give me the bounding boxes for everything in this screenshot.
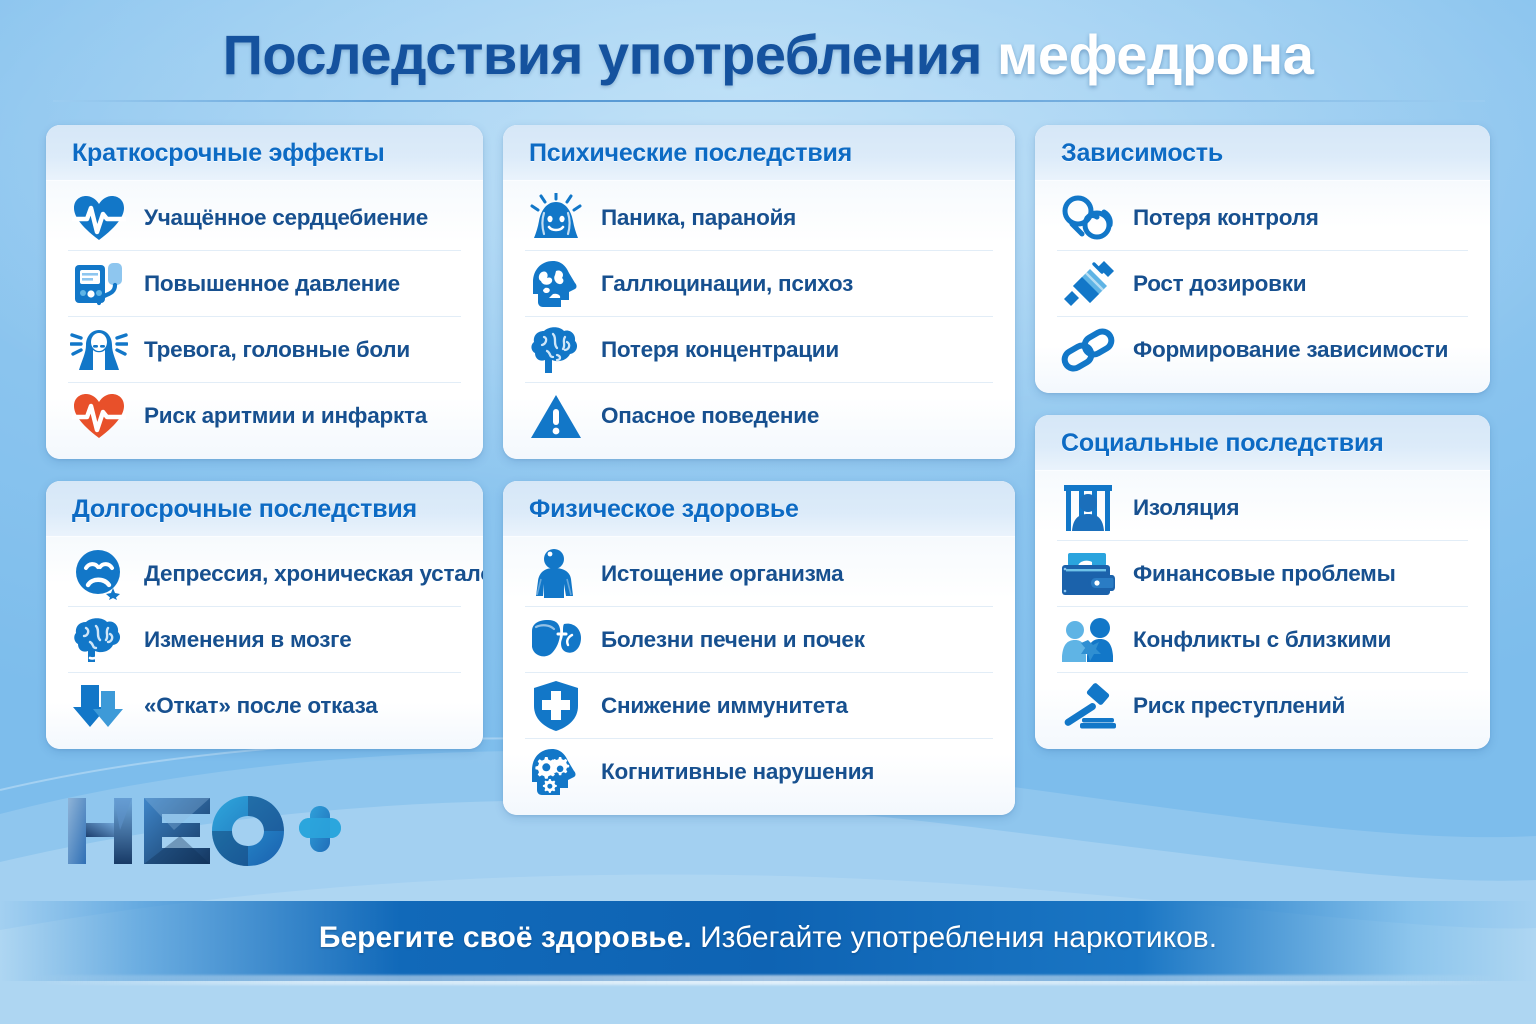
list-item[interactable]: Учащённое сердцебиение: [68, 185, 461, 251]
list-item-label: Финансовые проблемы: [1133, 561, 1396, 587]
column-left: Краткосрочные эффекты Учащённое сердцеби…: [46, 125, 483, 749]
shield-cross-icon: [525, 676, 587, 736]
list-item-label: Когнитивные нарушения: [601, 759, 874, 785]
card-header: Краткосрочные эффекты: [46, 125, 483, 181]
list-item-label: Опасное поведение: [601, 403, 819, 429]
wallet-icon: [1057, 544, 1119, 604]
logo-neo-plus: [62, 792, 342, 870]
card-long-term: Долгосрочные последствия Депрессия, хрон…: [46, 481, 483, 749]
list-item-label: «Откат» после отказа: [144, 693, 378, 719]
hallucination-head-icon: [525, 254, 587, 314]
card-mental: Психические последствия Пани: [503, 125, 1015, 459]
heart-pulse-icon: [68, 188, 130, 248]
list-item-label: Депрессия, хроническая усталость: [144, 561, 483, 587]
list-item-label: Тревога, головные боли: [144, 337, 410, 363]
footer-message-bold: Берегите своё здоровье.: [319, 921, 692, 954]
card-title: Социальные последствия: [1061, 429, 1468, 458]
list-item-label: Изменения в мозге: [144, 627, 352, 653]
title-divider: [53, 100, 1485, 102]
footer-message-regular: Избегайте употребления наркотиков.: [692, 921, 1217, 954]
list-item[interactable]: Конфликты с близкими: [1057, 607, 1468, 673]
liver-kidney-icon: [525, 610, 587, 670]
list-item[interactable]: Потеря контроля: [1057, 185, 1468, 251]
conflict-people-icon: [1057, 610, 1119, 670]
brain-change-icon: [68, 610, 130, 670]
list-item[interactable]: Рост дозировки: [1057, 251, 1468, 317]
page-title-main: Последствия употребления: [223, 23, 982, 86]
list-item-label: Истощение организма: [601, 561, 843, 587]
list-item-label: Формирование зависимости: [1133, 337, 1448, 363]
page-title: Последствия употребления мефедрона: [0, 22, 1536, 87]
card-addiction: Зависимость Потеря контроля: [1035, 125, 1490, 393]
list-item[interactable]: Тревога, головные боли: [68, 317, 461, 383]
list-item[interactable]: Финансовые проблемы: [1057, 541, 1468, 607]
cognitive-gears-head-icon: [525, 742, 587, 802]
card-body: Изоляция: [1035, 471, 1490, 749]
sad-face-icon: [68, 544, 130, 604]
list-item-label: Потеря контроля: [1133, 205, 1319, 231]
card-header: Физическое здоровье: [503, 481, 1015, 537]
list-item[interactable]: Риск преступлений: [1057, 673, 1468, 739]
cards-grid: Краткосрочные эффекты Учащённое сердцеби…: [46, 125, 1490, 815]
card-title: Зависимость: [1061, 139, 1468, 168]
list-item-label: Болезни печени и почек: [601, 627, 865, 653]
list-item[interactable]: Когнитивные нарушения: [525, 739, 993, 805]
card-body: Учащённое сердцебиение: [46, 181, 483, 459]
panic-ghost-icon: [525, 188, 587, 248]
brain-icon: [525, 320, 587, 380]
footer-shine: [0, 975, 1536, 985]
card-header: Психические последствия: [503, 125, 1015, 181]
headache-person-icon: [68, 320, 130, 380]
list-item[interactable]: Риск аритмии и инфаркта: [68, 383, 461, 449]
list-item-label: Риск преступлений: [1133, 693, 1345, 719]
exhausted-body-icon: [525, 544, 587, 604]
list-item-label: Конфликты с близкими: [1133, 627, 1391, 653]
list-item-label: Повышенное давление: [144, 271, 400, 297]
syringe-icon: [1057, 254, 1119, 314]
list-item[interactable]: Потеря концентрации: [525, 317, 993, 383]
list-item-label: Учащённое сердцебиение: [144, 205, 428, 231]
list-item[interactable]: Формирование зависимости: [1057, 317, 1468, 383]
list-item[interactable]: Изоляция: [1057, 475, 1468, 541]
footer-message: Берегите своё здоровье. Избегайте употре…: [0, 921, 1536, 955]
list-item[interactable]: Галлюцинации, психоз: [525, 251, 993, 317]
gavel-icon: [1057, 676, 1119, 736]
down-arrows-icon: [68, 676, 130, 736]
card-header: Зависимость: [1035, 125, 1490, 181]
red-heart-arrhythmia-icon: [68, 386, 130, 446]
list-item-label: Снижение иммунитета: [601, 693, 848, 719]
card-body: Истощение организма Болезни печени и поч…: [503, 537, 1015, 815]
list-item-label: Паника, паранойя: [601, 205, 796, 231]
card-title: Физическое здоровье: [529, 495, 993, 524]
prison-bars-icon: [1057, 478, 1119, 538]
list-item[interactable]: Опасное поведение: [525, 383, 993, 449]
blood-pressure-monitor-icon: [68, 254, 130, 314]
card-body: Депрессия, хроническая усталость Изменен…: [46, 537, 483, 749]
card-body: Паника, паранойя Галлюцинации, пс: [503, 181, 1015, 459]
card-header: Долгосрочные последствия: [46, 481, 483, 537]
warning-triangle-icon: [525, 386, 587, 446]
list-item-label: Рост дозировки: [1133, 271, 1306, 297]
card-short-term: Краткосрочные эффекты Учащённое сердцеби…: [46, 125, 483, 459]
list-item-label: Галлюцинации, психоз: [601, 271, 853, 297]
page-title-accent: мефедрона: [997, 23, 1313, 86]
list-item[interactable]: Паника, паранойя: [525, 185, 993, 251]
card-title: Краткосрочные эффекты: [72, 139, 461, 168]
list-item[interactable]: Депрессия, хроническая усталость: [68, 541, 461, 607]
card-title: Долгосрочные последствия: [72, 495, 461, 524]
list-item[interactable]: Болезни печени и почек: [525, 607, 993, 673]
handcuffs-icon: [1057, 188, 1119, 248]
card-body: Потеря контроля Рост дозировки: [1035, 181, 1490, 393]
column-right: Зависимость Потеря контроля: [1035, 125, 1490, 749]
card-physical: Физическое здоровье Истощение организма: [503, 481, 1015, 815]
list-item[interactable]: «Откат» после отказа: [68, 673, 461, 739]
list-item[interactable]: Снижение иммунитета: [525, 673, 993, 739]
list-item[interactable]: Истощение организма: [525, 541, 993, 607]
list-item[interactable]: Повышенное давление: [68, 251, 461, 317]
list-item-label: Риск аритмии и инфаркта: [144, 403, 427, 429]
column-middle: Психические последствия Пани: [503, 125, 1015, 815]
card-title: Психические последствия: [529, 139, 993, 168]
list-item-label: Изоляция: [1133, 495, 1239, 521]
chain-link-icon: [1057, 320, 1119, 380]
card-social: Социальные последствия: [1035, 415, 1490, 749]
list-item-label: Потеря концентрации: [601, 337, 839, 363]
list-item[interactable]: Изменения в мозге: [68, 607, 461, 673]
card-header: Социальные последствия: [1035, 415, 1490, 471]
